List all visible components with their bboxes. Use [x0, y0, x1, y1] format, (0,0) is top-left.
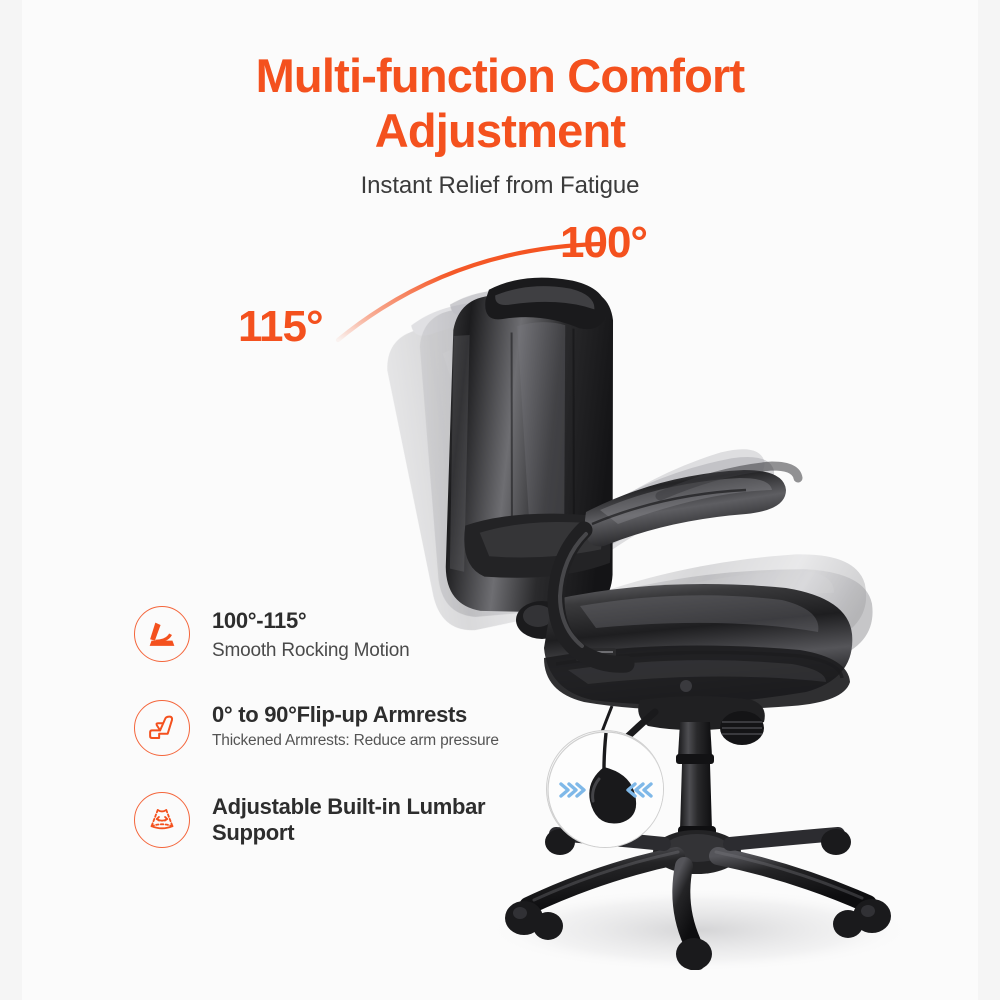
feature-item-rocking: 100°-115° Smooth Rocking Motion	[134, 604, 564, 664]
feature-text: 100°-115° Smooth Rocking Motion	[212, 604, 410, 664]
feature-subtitle: Smooth Rocking Motion	[212, 639, 410, 664]
recline-chair-icon	[134, 606, 190, 662]
feature-item-armrests: 0° to 90°Flip-up Armrests Thickened Armr…	[134, 698, 564, 756]
flip-up-armrest-icon	[134, 700, 190, 756]
feature-list: 100°-115° Smooth Rocking Motion 0° to 90…	[134, 604, 564, 848]
feature-item-lumbar: Adjustable Built-in Lumbar Support	[134, 790, 564, 848]
feature-title: 100°-115°	[212, 608, 410, 635]
lumbar-support-icon	[134, 792, 190, 848]
feature-text: 0° to 90°Flip-up Armrests Thickened Armr…	[212, 698, 499, 752]
lumbar-pump-magnifier	[546, 730, 664, 848]
feature-text: Adjustable Built-in Lumbar Support	[212, 790, 564, 848]
feature-title: 0° to 90°Flip-up Armrests	[212, 702, 499, 729]
angle-label-max: 115°	[238, 302, 323, 352]
angle-label-min: 100°	[560, 218, 647, 268]
feature-subtitle: Thickened Armrests: Reduce arm pressure	[212, 731, 499, 751]
product-feature-poster: Multi-function Comfort Adjustment Instan…	[0, 0, 1000, 1000]
header-block: Multi-function Comfort Adjustment Instan…	[0, 48, 1000, 200]
page-subtitle: Instant Relief from Fatigue	[0, 172, 1000, 200]
feature-title: Adjustable Built-in Lumbar Support	[212, 794, 564, 848]
page-title: Multi-function Comfort Adjustment	[0, 48, 1000, 159]
